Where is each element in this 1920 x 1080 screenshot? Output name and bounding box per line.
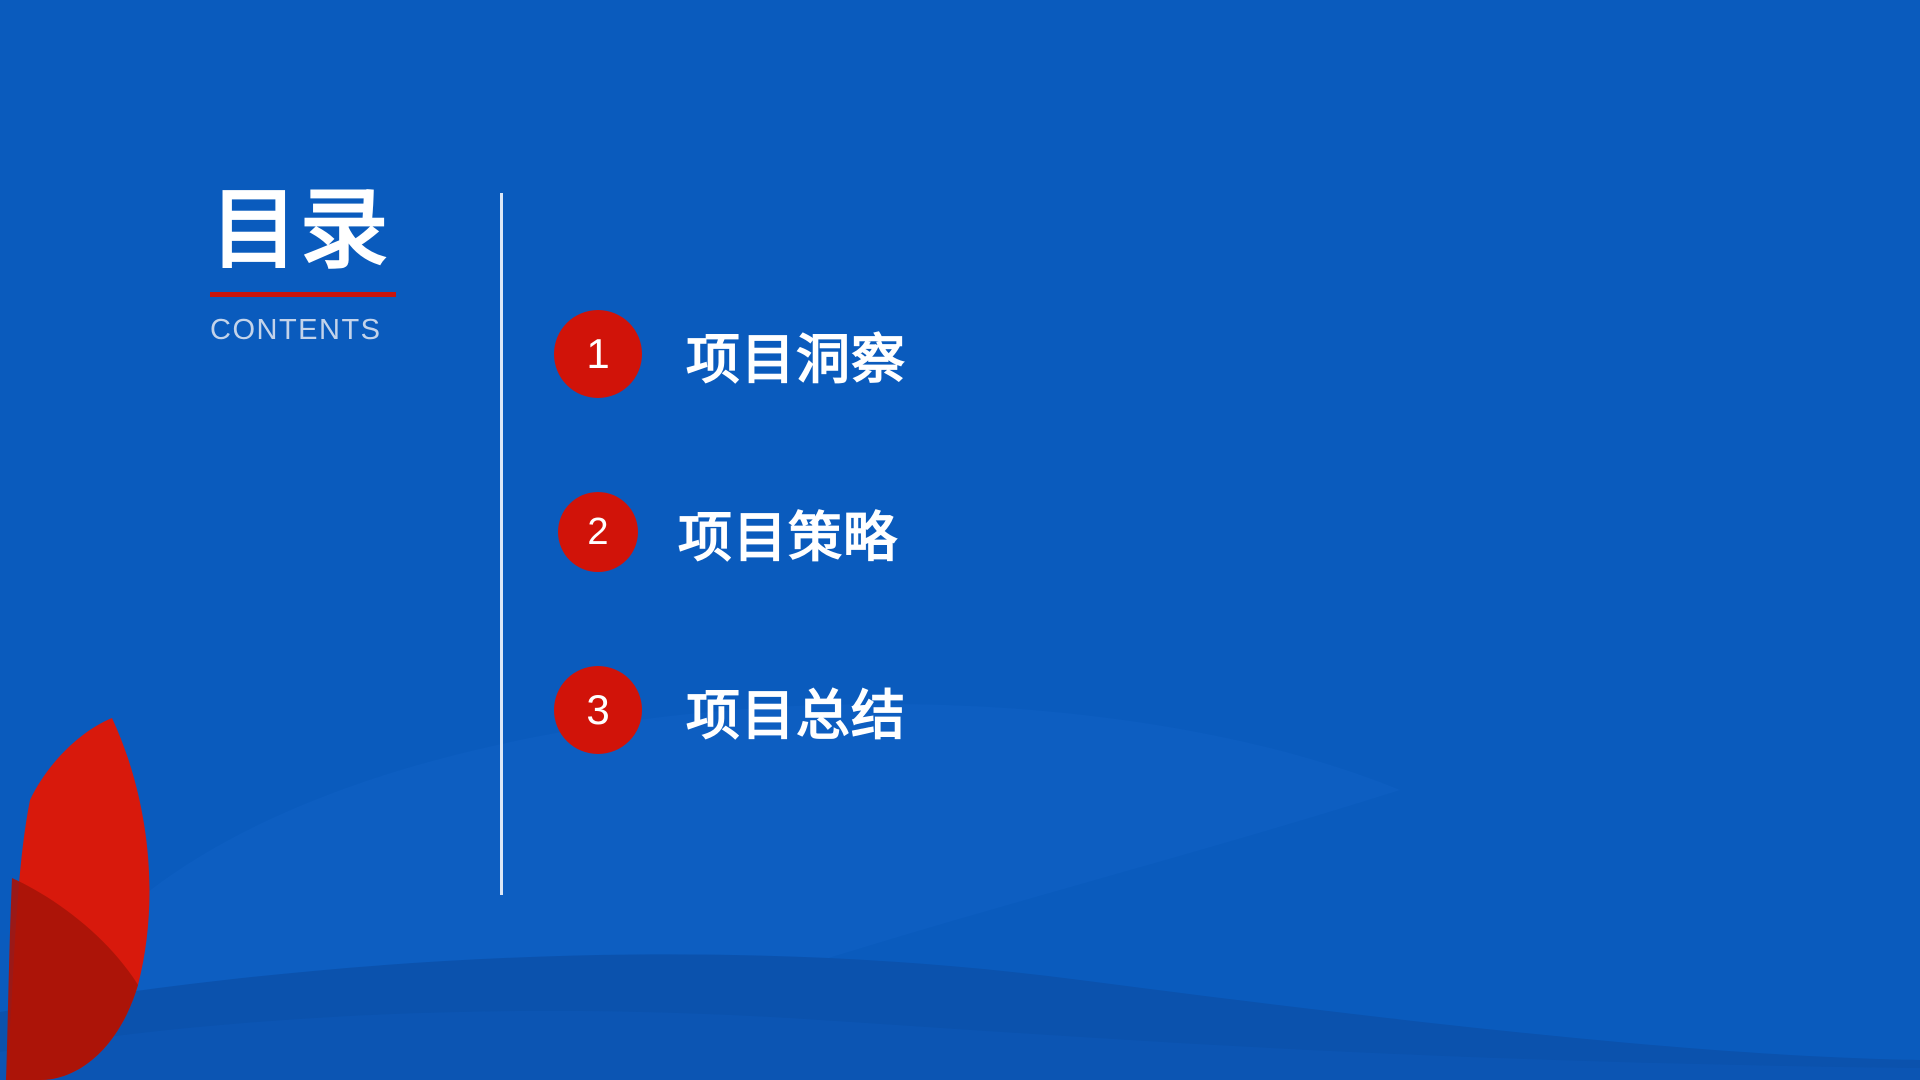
- bottom-wave-secondary-shape: [0, 1011, 1920, 1080]
- background-decoration: [0, 0, 1920, 1080]
- contents-item-number-badge: 2: [558, 492, 638, 572]
- contents-list: 1 项目洞察 2 项目策略 3 项目总结: [554, 308, 906, 756]
- contents-item-3[interactable]: 3 项目总结: [554, 664, 906, 756]
- contents-item-2[interactable]: 2 项目策略: [554, 486, 906, 578]
- page-subtitle: CONTENTS: [210, 314, 410, 347]
- contents-item-label: 项目洞察: [686, 315, 906, 394]
- contents-item-number-badge: 3: [554, 666, 642, 754]
- page-title: 目录: [210, 186, 410, 274]
- contents-heading: 目录 CONTENTS: [210, 186, 410, 347]
- blue-leaf-shape: [10, 704, 1400, 1080]
- vertical-divider: [500, 193, 503, 895]
- title-underline-rule: [210, 292, 396, 297]
- red-leaf-shape: [6, 718, 150, 1080]
- contents-item-1[interactable]: 1 项目洞察: [554, 308, 906, 400]
- slide-canvas: 目录 CONTENTS 1 项目洞察 2 项目策略 3 项目总结: [0, 0, 1920, 1080]
- red-leaf-shadow-shape: [6, 878, 138, 1080]
- contents-item-label: 项目策略: [678, 493, 898, 572]
- contents-item-number-badge: 1: [554, 310, 642, 398]
- contents-item-label: 项目总结: [686, 671, 906, 750]
- bottom-wave-shape: [0, 954, 1920, 1080]
